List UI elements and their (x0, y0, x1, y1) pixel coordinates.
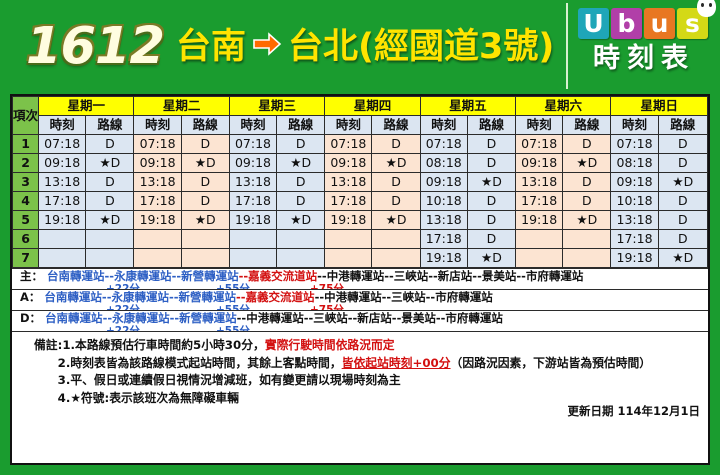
trip-time-cell: 13:18 (611, 211, 658, 230)
route-separator: -- (426, 290, 436, 304)
trip-time-cell (134, 230, 181, 249)
trip-route-cell: D (563, 173, 611, 192)
trip-route-cell: ★D (86, 211, 134, 230)
trip-route-cell: D (658, 230, 707, 249)
table-row: 719:18★D19:18★D (13, 249, 708, 268)
note-number: 1. (62, 338, 75, 352)
note-text: ★符號:表示該班次為無障礙車輛 (70, 391, 239, 405)
table-row: 519:18★D19:18★D19:18★D19:18★D13:18D19:18… (13, 211, 708, 230)
trip-route-cell: D (277, 192, 325, 211)
table-row: 617:18D17:18D (13, 230, 708, 249)
sub-header-route-wed: 路線 (277, 116, 325, 135)
trip-time-cell: 19:18 (420, 249, 467, 268)
route-label: 主： (20, 269, 43, 283)
sub-header-time-sun: 時刻 (611, 116, 658, 135)
route-separator: -- (315, 290, 325, 304)
trip-route-cell: D (277, 135, 325, 154)
route-separator: -- (428, 269, 438, 283)
route-stop: 永康轉運站 (111, 290, 169, 304)
trip-route-cell: D (658, 135, 707, 154)
trip-time-cell: 17:18 (325, 192, 372, 211)
route-separator: -- (103, 311, 113, 325)
trip-time-cell: 19:18 (611, 249, 658, 268)
note-number: 3. (58, 373, 71, 387)
trip-time-cell: 10:18 (420, 192, 467, 211)
note-highlight-underline: 皆依起站時刻+00分 (342, 356, 451, 370)
route-stop: 中港轉運站 (324, 290, 382, 304)
route-stop: 台南轉運站 (45, 311, 103, 325)
trip-time-cell: 09:18 (39, 154, 86, 173)
trip-time-cell: 09:18 (420, 173, 467, 192)
notes-list: 備註:1.本路線預估行車時間約5小時30分，實際行駛時間依路況而定 2.時刻表皆… (34, 337, 702, 407)
row-index-cell: 1 (13, 135, 39, 154)
trip-time-cell (229, 230, 276, 249)
sub-header-time-thu: 時刻 (325, 116, 372, 135)
trip-time-cell: 07:18 (611, 135, 658, 154)
route-line: D： 台南轉運站--永康轉運站--新營轉運站--中港轉運站--三峽站--新店站-… (20, 312, 708, 325)
trip-time-cell: 17:18 (420, 230, 467, 249)
trip-time-cell: 08:18 (611, 154, 658, 173)
row-index-cell: 5 (13, 211, 39, 230)
route-stop: 嘉義交流道站 (248, 269, 317, 283)
trip-time-cell: 17:18 (516, 192, 563, 211)
notes-section: 備註:1.本路線預估行車時間約5小時30分，實際行駛時間依路況而定 2.時刻表皆… (12, 331, 708, 423)
trip-route-cell: ★D (372, 211, 420, 230)
sub-header-route-sat: 路線 (563, 116, 611, 135)
trip-time-cell (325, 249, 372, 268)
note-text-tail: （因路況因素，下游站皆為預估時間） (451, 356, 652, 370)
sub-header-route-fri: 路線 (467, 116, 515, 135)
trip-time-cell (516, 249, 563, 268)
trip-time-cell: 19:18 (229, 211, 276, 230)
day-header-sat: 星期六 (516, 97, 611, 116)
sub-header-route-tue: 路線 (181, 116, 229, 135)
route-row: A： 台南轉運站--永康轉運站--新營轉運站--嘉義交流道站--中港轉運站--三… (12, 289, 708, 310)
trip-route-cell: D (467, 211, 515, 230)
trip-route-cell: D (563, 135, 611, 154)
trip-route-cell: D (372, 135, 420, 154)
trip-route-cell: D (86, 192, 134, 211)
trip-time-cell: 13:18 (420, 211, 467, 230)
trip-time-cell: 08:18 (420, 154, 467, 173)
trip-time-cell: 07:18 (39, 135, 86, 154)
route-stop: 景美站 (482, 269, 517, 283)
timetable-head: 項次 星期一 星期二 星期三 星期四 星期五 星期六 星期日 時刻 路線 時刻 … (13, 97, 708, 135)
route-separator: -- (348, 311, 358, 325)
trip-route-cell: D (467, 192, 515, 211)
row-index-cell: 2 (13, 154, 39, 173)
trip-route-cell (372, 230, 420, 249)
route-stop: 新店站 (357, 311, 392, 325)
trip-time-cell (229, 249, 276, 268)
trip-time-cell: 09:18 (134, 154, 181, 173)
trip-route-cell: D (181, 173, 229, 192)
day-header-fri: 星期五 (420, 97, 515, 116)
trip-route-cell: D (563, 192, 611, 211)
trip-route-cell (86, 230, 134, 249)
trip-time-cell: 07:18 (516, 135, 563, 154)
row-index-cell: 7 (13, 249, 39, 268)
route-stop: 新店站 (438, 269, 473, 283)
sub-header-route-thu: 路線 (372, 116, 420, 135)
trip-time-cell: 13:18 (134, 173, 181, 192)
right-arrow-icon (252, 28, 282, 63)
trip-time-cell: 19:18 (516, 211, 563, 230)
header-banner: 1612 台南台北(經國道3號) U b u s 時刻表 (0, 0, 720, 92)
route-stop: 市府轉運站 (526, 269, 584, 283)
route-stop: 新營轉運站 (179, 290, 237, 304)
trip-route-cell: D (372, 192, 420, 211)
sub-header-time-tue: 時刻 (134, 116, 181, 135)
note-text: 時刻表皆為該路線模式起站時間，其餘上客點時間， (70, 356, 341, 370)
route-stop: 台南轉運站 (47, 269, 105, 283)
trip-route-cell: ★D (467, 249, 515, 268)
timetable-body: 107:18D07:18D07:18D07:18D07:18D07:18D07:… (13, 135, 708, 268)
route-stop: 嘉義交流道站 (246, 290, 315, 304)
trip-time-cell: 17:18 (229, 192, 276, 211)
trip-time-cell: 07:18 (229, 135, 276, 154)
route-stop: 中港轉運站 (327, 269, 385, 283)
trip-time-cell: 09:18 (516, 154, 563, 173)
note-text: 平、假日或連續假日視情況增減班，如有變更請以現場時刻為主 (70, 373, 400, 387)
trip-time-cell: 09:18 (229, 154, 276, 173)
trip-route-cell: D (86, 135, 134, 154)
trip-route-cell (277, 249, 325, 268)
route-separator: -- (516, 269, 526, 283)
trip-route-cell: ★D (86, 154, 134, 173)
sub-header-route-mon: 路線 (86, 116, 134, 135)
route-stop: 三峽站 (394, 269, 429, 283)
trip-route-cell: ★D (658, 173, 707, 192)
trip-route-cell (563, 230, 611, 249)
notes-title: 備註: (34, 338, 62, 352)
logo-letter-u2: u (644, 8, 675, 39)
trip-route-cell: D (467, 154, 515, 173)
logo-letter-u1: U (578, 8, 609, 39)
route-stop: 永康轉運站 (114, 269, 172, 283)
route-destination: 台北(經國道3號) (288, 27, 554, 67)
route-separator: -- (169, 290, 179, 304)
trip-time-cell: 19:18 (325, 211, 372, 230)
route-number: 1612 (26, 21, 164, 72)
trip-time-cell: 13:18 (516, 173, 563, 192)
note-number: 2. (58, 356, 71, 370)
timetable: 項次 星期一 星期二 星期三 星期四 星期五 星期六 星期日 時刻 路線 時刻 … (12, 96, 708, 268)
route-separator: -- (172, 269, 182, 283)
trip-time-cell: 17:18 (39, 192, 86, 211)
note-highlight: 實際行駛時間依路況而定 (265, 338, 395, 352)
sub-header-time-fri: 時刻 (420, 116, 467, 135)
route-stop: 三峽站 (391, 290, 426, 304)
ubus-logo-letters: U b u s (578, 8, 714, 39)
route-title: 台南台北(經國道3號) (176, 28, 554, 65)
trip-route-cell: ★D (658, 249, 707, 268)
route-separator: -- (105, 269, 115, 283)
logo-subtitle: 時刻表 (574, 45, 714, 73)
route-separator: -- (170, 311, 180, 325)
route-separator: -- (392, 311, 402, 325)
note-item: 2.時刻表皆為該路線模式起站時間，其餘上客點時間，皆依起站時刻+00分（因路況因… (34, 355, 702, 373)
trip-time-cell (134, 249, 181, 268)
sub-header-time-wed: 時刻 (229, 116, 276, 135)
route-line: A： 台南轉運站--永康轉運站--新營轉運站--嘉義交流道站--中港轉運站--三… (20, 291, 708, 304)
note-indent (34, 391, 58, 405)
row-index-cell: 3 (13, 173, 39, 192)
trip-time-cell: 07:18 (420, 135, 467, 154)
table-row: 313:18D13:18D13:18D13:18D09:18★D13:18D09… (13, 173, 708, 192)
table-row: 209:18★D09:18★D09:18★D09:18★D08:18D09:18… (13, 154, 708, 173)
route-label: D： (20, 311, 41, 325)
route-separator: -- (382, 290, 392, 304)
day-header-mon: 星期一 (39, 97, 134, 116)
trip-route-cell: ★D (181, 154, 229, 173)
trip-route-cell: D (658, 192, 707, 211)
route-line: 主： 台南轉運站--永康轉運站--新營轉運站--嘉義交流道站--中港轉運站--三… (20, 270, 708, 283)
trip-route-cell: D (372, 173, 420, 192)
trip-route-cell: D (658, 211, 707, 230)
trip-time-cell: 13:18 (325, 173, 372, 192)
note-item: 備註:1.本路線預估行車時間約5小時30分，實際行駛時間依路況而定 (34, 337, 702, 355)
trip-time-cell: 07:18 (325, 135, 372, 154)
mascot-icon (697, 0, 716, 17)
sub-header-time-sat: 時刻 (516, 116, 563, 135)
trip-time-cell (39, 249, 86, 268)
trip-time-cell: 13:18 (39, 173, 86, 192)
table-row: 107:18D07:18D07:18D07:18D07:18D07:18D07:… (13, 135, 708, 154)
note-text: 本路線預估行車時間約5小時30分， (75, 338, 265, 352)
trip-route-cell: ★D (563, 154, 611, 173)
route-row: D： 台南轉運站--永康轉運站--新營轉運站--中港轉運站--三峽站--新店站-… (12, 310, 708, 331)
sub-header-time-mon: 時刻 (39, 116, 86, 135)
day-header-thu: 星期四 (325, 97, 420, 116)
trip-route-cell: D (181, 192, 229, 211)
route-separator: -- (237, 311, 247, 325)
ubus-logo: U b u s 時刻表 (566, 3, 714, 89)
route-stop: 中港轉運站 (246, 311, 304, 325)
route-stop: 台南轉運站 (44, 290, 102, 304)
route-row: 主： 台南轉運站--永康轉運站--新營轉運站--嘉義交流道站--中港轉運站--三… (12, 268, 708, 289)
trip-time-cell (39, 230, 86, 249)
route-separator: -- (472, 269, 482, 283)
route-stop: 新營轉運站 (181, 269, 239, 283)
row-index-cell: 4 (13, 192, 39, 211)
trip-route-cell (181, 249, 229, 268)
trip-route-cell (372, 249, 420, 268)
trip-time-cell: 07:18 (134, 135, 181, 154)
trip-route-cell (563, 249, 611, 268)
trip-time-cell (325, 230, 372, 249)
route-stop: 景美站 (401, 311, 436, 325)
trip-route-cell (86, 249, 134, 268)
trip-time-cell: 19:18 (134, 211, 181, 230)
trip-route-cell (277, 230, 325, 249)
trip-route-cell: D (181, 135, 229, 154)
route-stop: 新營轉運站 (179, 311, 237, 325)
trip-route-cell: ★D (563, 211, 611, 230)
trip-route-cell: ★D (181, 211, 229, 230)
route-separator: -- (304, 311, 314, 325)
index-header: 項次 (13, 97, 39, 135)
day-header-tue: 星期二 (134, 97, 229, 116)
trip-time-cell: 10:18 (611, 192, 658, 211)
trip-route-cell: D (277, 173, 325, 192)
trip-time-cell: 17:18 (134, 192, 181, 211)
route-stop: 永康轉運站 (112, 311, 170, 325)
route-origin: 台南 (176, 27, 246, 67)
timetable-panel: 項次 星期一 星期二 星期三 星期四 星期五 星期六 星期日 時刻 路線 時刻 … (10, 94, 710, 465)
logo-letter-b: b (611, 8, 642, 39)
trip-route-cell: ★D (372, 154, 420, 173)
trip-time-cell: 17:18 (611, 230, 658, 249)
trip-route-cell: D (658, 154, 707, 173)
trip-time-cell (516, 230, 563, 249)
timetable-day-header-row: 項次 星期一 星期二 星期三 星期四 星期五 星期六 星期日 (13, 97, 708, 116)
trip-route-cell: ★D (467, 173, 515, 192)
table-row: 417:18D17:18D17:18D17:18D10:18D17:18D10:… (13, 192, 708, 211)
trip-route-cell: ★D (277, 211, 325, 230)
route-separator: -- (239, 269, 249, 283)
note-item: 3.平、假日或連續假日視情況增減班，如有變更請以現場時刻為主 (34, 372, 702, 390)
note-number: 4. (58, 391, 71, 405)
route-separator: -- (384, 269, 394, 283)
route-stop: 三峽站 (313, 311, 348, 325)
route-descriptions: 主： 台南轉運站--永康轉運站--新營轉運站--嘉義交流道站--中港轉運站--三… (12, 268, 708, 331)
route-stop: 市府轉運站 (435, 290, 493, 304)
trip-route-cell (181, 230, 229, 249)
note-indent (34, 356, 58, 370)
trip-route-cell: D (86, 173, 134, 192)
timetable-sub-header-row: 時刻 路線 時刻 路線 時刻 路線 時刻 路線 時刻 路線 時刻 路線 時刻 路… (13, 116, 708, 135)
day-header-sun: 星期日 (611, 97, 708, 116)
trip-route-cell: D (467, 230, 515, 249)
trip-route-cell: D (467, 135, 515, 154)
row-index-cell: 6 (13, 230, 39, 249)
trip-time-cell: 19:18 (39, 211, 86, 230)
route-separator: -- (436, 311, 446, 325)
route-separator: -- (317, 269, 327, 283)
trip-route-cell: ★D (277, 154, 325, 173)
trip-time-cell: 09:18 (611, 173, 658, 192)
update-date: 更新日期 114年12月1日 (567, 403, 700, 419)
route-label: A： (20, 290, 40, 304)
route-stop: 市府轉運站 (445, 311, 503, 325)
note-indent (34, 373, 58, 387)
sub-header-route-sun: 路線 (658, 116, 707, 135)
trip-time-cell: 09:18 (325, 154, 372, 173)
route-separator: -- (236, 290, 246, 304)
day-header-wed: 星期三 (229, 97, 324, 116)
trip-time-cell: 13:18 (229, 173, 276, 192)
